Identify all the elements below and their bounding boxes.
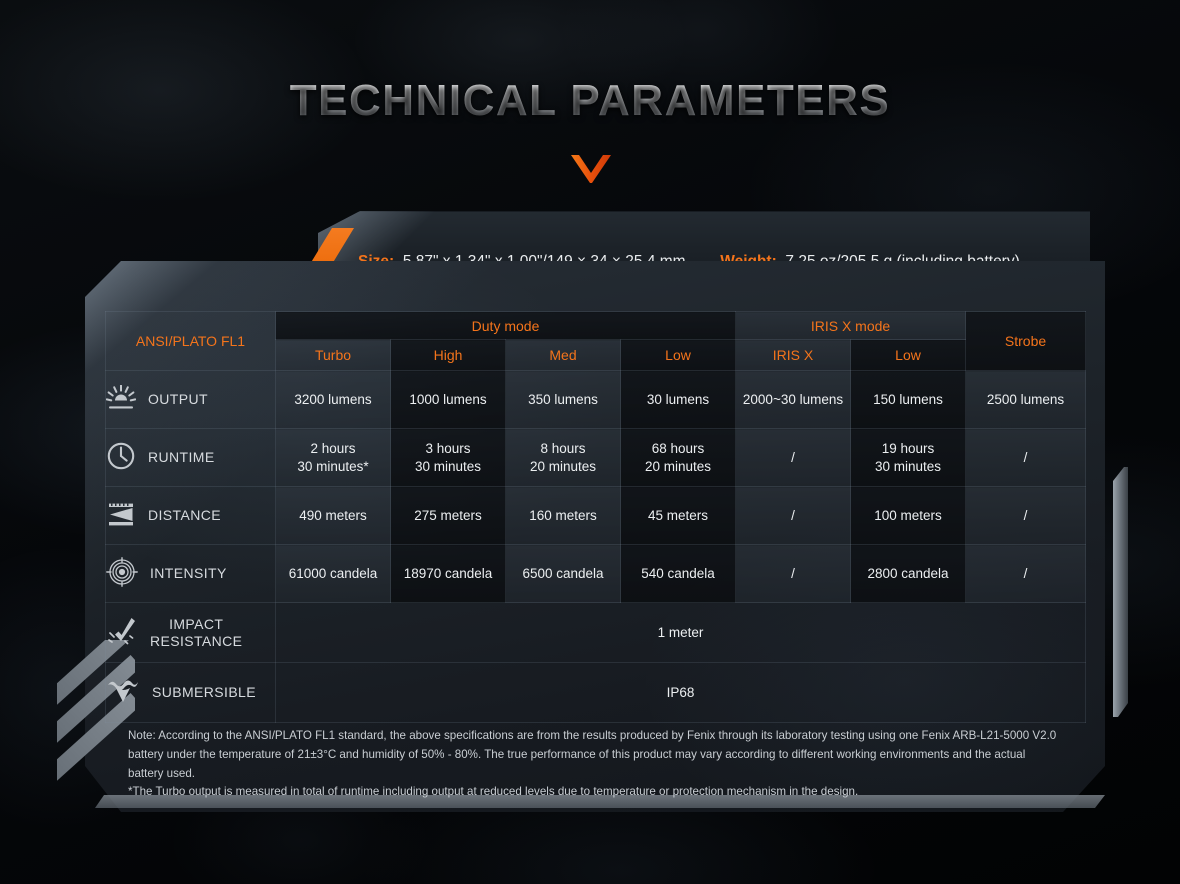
table-header-group-row: ANSI/PLATO FL1 Duty mode IRIS X mode Str… <box>106 312 1086 340</box>
footnote-line-2: *The Turbo output is measured in total o… <box>128 783 1058 802</box>
cell-output-med: 350 lumens <box>506 371 621 429</box>
row-label-text-output: OUTPUT <box>148 391 208 408</box>
decorative-right-accent-bar <box>1113 467 1128 717</box>
cell-intensity-turbo: 61000 candela <box>276 545 391 603</box>
table-row-runtime: RUNTIME 2 hours30 minutes* 3 hours30 min… <box>106 429 1086 487</box>
cell-intensity-iris-x: / <box>736 545 851 603</box>
cell-runtime-iris-x: / <box>736 429 851 487</box>
cell-output-high: 1000 lumens <box>391 371 506 429</box>
cell-runtime-turbo: 2 hours30 minutes* <box>276 429 391 487</box>
sun-rays-icon <box>106 385 136 414</box>
cell-intensity-low: 540 candela <box>621 545 736 603</box>
corner-header: ANSI/PLATO FL1 <box>106 312 276 371</box>
group-header-strobe: Strobe <box>966 312 1086 371</box>
cell-output-low: 30 lumens <box>621 371 736 429</box>
impact-resistance-icon <box>106 616 138 649</box>
cell-distance-iris-x: / <box>736 487 851 545</box>
cell-output-turbo: 3200 lumens <box>276 371 391 429</box>
cell-output-strobe: 2500 lumens <box>966 371 1086 429</box>
column-header-med: Med <box>506 340 621 371</box>
clock-icon <box>106 441 136 474</box>
cell-distance-iris-low: 100 meters <box>851 487 966 545</box>
cell-distance-strobe: / <box>966 487 1086 545</box>
cell-runtime-iris-low: 19 hours30 minutes <box>851 429 966 487</box>
column-header-iris-x: IRIS X <box>736 340 851 371</box>
group-header-iris-x-mode: IRIS X mode <box>736 312 966 340</box>
cell-distance-low: 45 meters <box>621 487 736 545</box>
page-title-container: TECHNICAL PARAMETERS <box>0 76 1180 126</box>
cell-distance-med: 160 meters <box>506 487 621 545</box>
cell-output-iris-x: 2000~30 lumens <box>736 371 851 429</box>
cell-runtime-low: 68 hours20 minutes <box>621 429 736 487</box>
cell-output-iris-low: 150 lumens <box>851 371 966 429</box>
cell-runtime-med: 8 hours20 minutes <box>506 429 621 487</box>
row-label-text-intensity: INTENSITY <box>150 565 227 582</box>
cell-intensity-high: 18970 candela <box>391 545 506 603</box>
water-drop-icon <box>106 678 140 707</box>
table-row-output: OUTPUT 3200 lumens 1000 lumens 350 lumen… <box>106 371 1086 429</box>
column-header-turbo: Turbo <box>276 340 391 371</box>
cell-distance-high: 275 meters <box>391 487 506 545</box>
row-label-distance: DISTANCE <box>106 487 276 545</box>
table-row-impact-resistance: IMPACTRESISTANCE 1 meter <box>106 603 1086 663</box>
column-header-low-iris: Low <box>851 340 966 371</box>
cell-intensity-med: 6500 candela <box>506 545 621 603</box>
cell-runtime-high: 3 hours30 minutes <box>391 429 506 487</box>
table-row-distance: DISTANCE 490 meters 275 meters 160 meter… <box>106 487 1086 545</box>
footnote: Note: According to the ANSI/PLATO FL1 st… <box>128 727 1058 802</box>
row-label-output: OUTPUT <box>106 371 276 429</box>
row-label-text-submersible: SUBMERSIBLE <box>152 684 256 701</box>
column-header-low: Low <box>621 340 736 371</box>
row-label-intensity: INTENSITY <box>106 545 276 603</box>
row-label-text-distance: DISTANCE <box>148 507 221 524</box>
group-header-duty-mode: Duty mode <box>276 312 736 340</box>
cell-intensity-iris-low: 2800 candela <box>851 545 966 603</box>
cell-impact-resistance-value: 1 meter <box>276 603 1086 663</box>
row-label-runtime: RUNTIME <box>106 429 276 487</box>
footnote-line-1: Note: According to the ANSI/PLATO FL1 st… <box>128 727 1058 783</box>
column-header-high: High <box>391 340 506 371</box>
cell-runtime-strobe: / <box>966 429 1086 487</box>
row-label-impact-resistance: IMPACTRESISTANCE <box>106 603 276 663</box>
row-label-text-impact-resistance: IMPACTRESISTANCE <box>150 616 242 649</box>
page-title: TECHNICAL PARAMETERS <box>290 76 890 126</box>
specifications-table: ANSI/PLATO FL1 Duty mode IRIS X mode Str… <box>105 311 1086 723</box>
technical-parameters-page: TECHNICAL PARAMETERS Size: 5.87" x 1.34"… <box>0 0 1180 884</box>
beam-distance-icon <box>106 500 136 531</box>
target-intensity-icon <box>106 557 138 590</box>
row-label-text-runtime: RUNTIME <box>148 449 215 466</box>
cell-distance-turbo: 490 meters <box>276 487 391 545</box>
chevron-down-icon <box>571 155 611 183</box>
table-row-submersible: SUBMERSIBLE IP68 <box>106 663 1086 723</box>
row-label-submersible: SUBMERSIBLE <box>106 663 276 723</box>
cell-submersible-value: IP68 <box>276 663 1086 723</box>
cell-intensity-strobe: / <box>966 545 1086 603</box>
table-row-intensity: INTENSITY 61000 candela 18970 candela 65… <box>106 545 1086 603</box>
